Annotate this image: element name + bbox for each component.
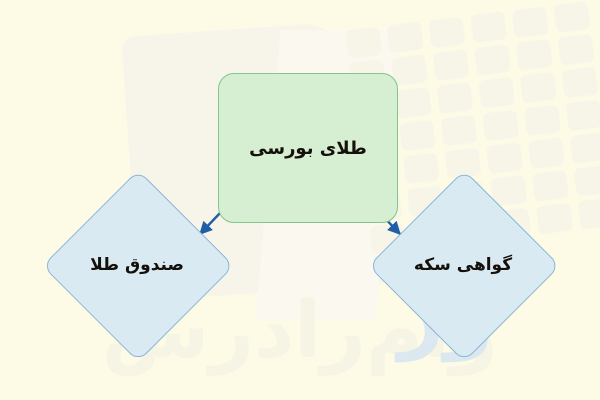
- diagram-canvas: وام‌رادرس ور طلای بورسی صندوق طلا گواهی …: [0, 0, 600, 400]
- node-coin-certificate-label: گواهی سکه: [414, 255, 512, 275]
- node-root-label: طلای بورسی: [249, 138, 367, 159]
- node-coin-certificate[interactable]: گواهی سکه: [368, 170, 558, 360]
- node-gold-fund-label: صندوق طلا: [90, 255, 184, 275]
- node-gold-fund[interactable]: صندوق طلا: [42, 170, 232, 360]
